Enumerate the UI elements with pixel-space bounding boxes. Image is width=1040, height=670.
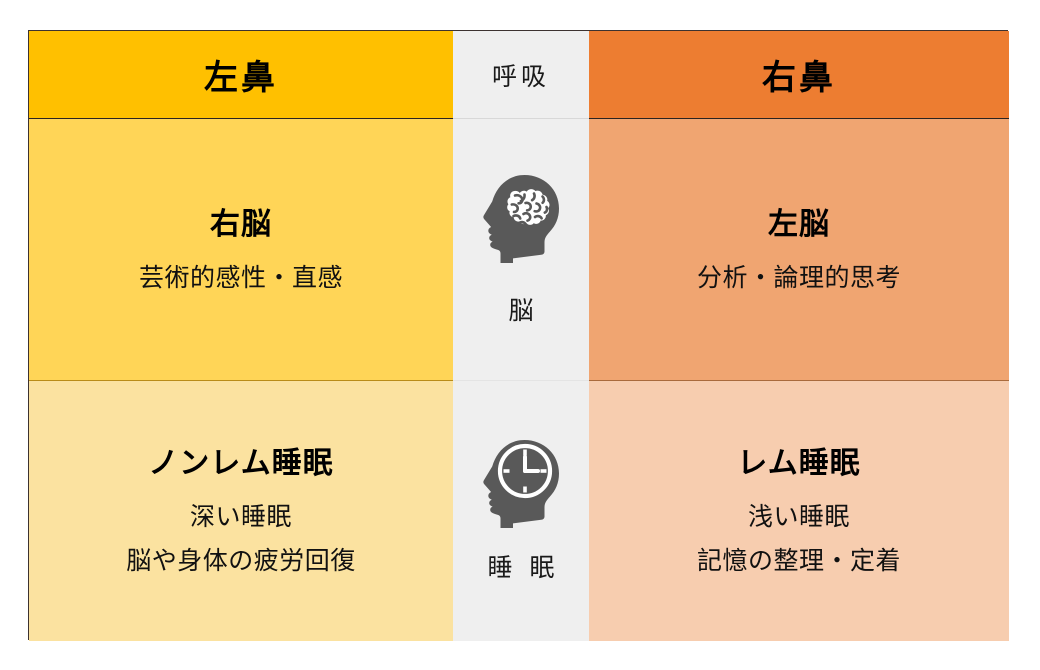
cell-line-non-rem-sleep-1: 深い睡眠: [190, 496, 292, 540]
cell-line-rem-sleep-2: 記憶の整理・定着: [697, 540, 901, 584]
header-cell-left-nostril: 左鼻: [29, 31, 453, 119]
cell-icon-brain: 脳: [453, 119, 589, 381]
cell-left-brain: 左脳 分析・論理的思考: [589, 119, 1009, 381]
cell-title-right-brain: 右脳: [210, 199, 272, 243]
cell-rem-sleep: レム睡眠 浅い睡眠 記憶の整理・定着: [589, 381, 1009, 641]
brain-head-icon: [478, 173, 564, 265]
cell-title-left-brain: 左脳: [768, 199, 830, 243]
header-cell-right-nostril: 右鼻: [589, 31, 1009, 119]
header-cell-breathing: 呼吸: [453, 31, 589, 119]
icon-label-sleep: 睡 眠: [483, 548, 560, 584]
cell-title-rem-sleep: レム睡眠: [737, 438, 860, 482]
breathing-brain-sleep-table: 左鼻 呼吸 右鼻 右脳 芸術的感性・直感: [28, 30, 1008, 640]
cell-title-non-rem-sleep: ノンレム睡眠: [148, 438, 333, 482]
sleep-icon-group: 睡 眠: [478, 438, 564, 584]
header-label-right-nostril: 右鼻: [762, 50, 836, 99]
brain-icon-group: 脳: [478, 173, 564, 327]
cell-non-rem-sleep: ノンレム睡眠 深い睡眠 脳や身体の疲労回復: [29, 381, 453, 641]
diagram-canvas: 左鼻 呼吸 右鼻 右脳 芸術的感性・直感: [0, 0, 1040, 670]
cell-line-non-rem-sleep-2: 脳や身体の疲労回復: [126, 540, 356, 584]
icon-label-brain: 脳: [503, 291, 538, 327]
clock-head-icon: [478, 438, 564, 530]
cell-line-left-brain-1: 分析・論理的思考: [697, 257, 901, 301]
cell-line-right-brain-1: 芸術的感性・直感: [139, 257, 343, 301]
cell-right-brain: 右脳 芸術的感性・直感: [29, 119, 453, 381]
cell-line-rem-sleep-1: 浅い睡眠: [748, 496, 850, 540]
header-label-breathing: 呼吸: [492, 57, 550, 93]
header-label-left-nostril: 左鼻: [204, 50, 278, 99]
cell-icon-sleep: 睡 眠: [453, 381, 589, 641]
